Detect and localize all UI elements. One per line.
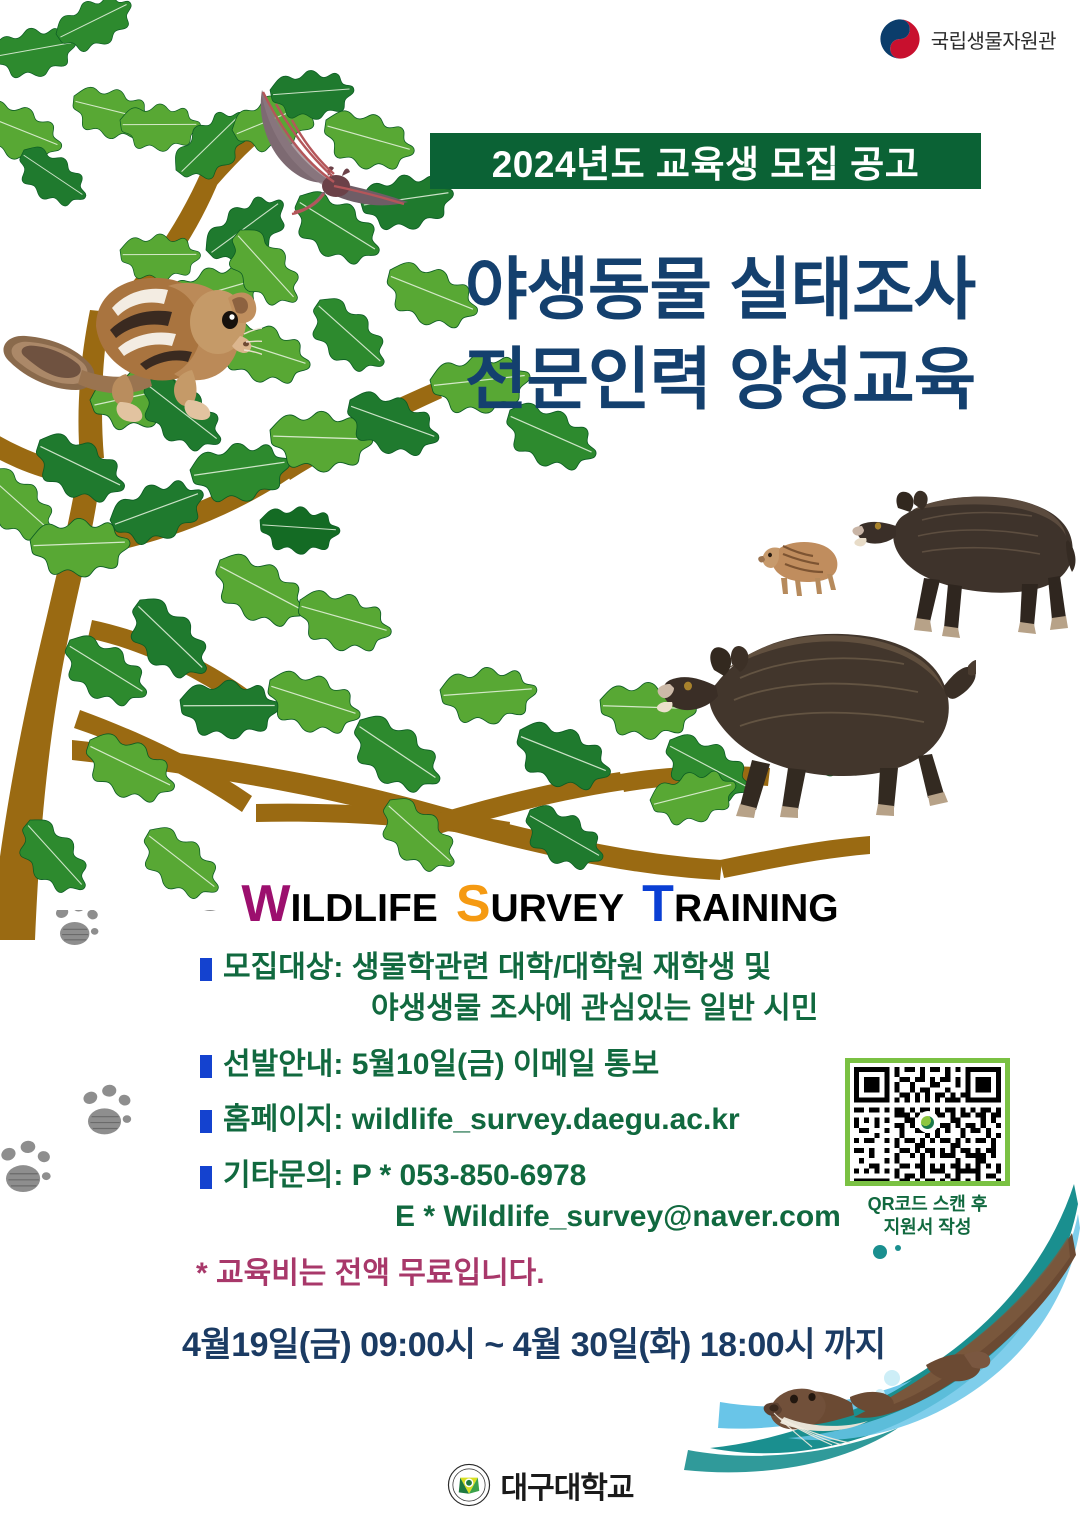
info-contact-email[interactable]: E * Wildlife_survey@naver.com [223,1197,841,1238]
wild-boar-piglet-illustration [757,528,847,598]
info-list: 모집대상: 생물학관련 대학/대학원 재학생 및 야생생물 조사에 관심있는 일… [200,948,920,1253]
info-contact-phone: 기타문의: P * 053-850-6978 [223,1159,586,1192]
qr-code-image[interactable] [845,1058,1010,1186]
bullet-square-icon [200,1055,212,1078]
qr-caption-line1: QR코드 스캔 후 [845,1193,1010,1216]
subtitle-word-wildlife: ILDLIFE [290,887,437,930]
info-item-target: 모집대상: 생물학관련 대학/대학원 재학생 및 야생생물 조사에 관심있는 일… [200,948,920,1030]
illustration-layer [0,0,1080,1527]
qr-center-logo [917,1111,939,1133]
agency-name: 국립생물자원관 [931,25,1056,54]
subtitle-cap-t: T [642,875,674,933]
page-title: 야생동물 실태조사 전문인력 양성교육 [390,245,1050,426]
university-footer: 대구대학교 [0,1463,1080,1507]
application-period: 4월19일(금) 09:00시 ~ 4월 30일(화) 18:00시 까지 [182,1317,886,1366]
info-item-selection: 선발안내: 5월10일(금) 이메일 통보 [200,1045,920,1086]
wild-boar-standing-illustration [852,480,1080,640]
oak-tree-branch-illustration [0,60,880,960]
title-line-1: 야생동물 실태조사 [390,245,1050,335]
info-item-homepage: 홈페이지: wildlife_survey.daegu.ac.kr [200,1100,920,1141]
free-tuition-note: * 교육비는 전액 무료입니다. [196,1248,545,1292]
bullet-square-icon [200,1110,212,1133]
title-line-2: 전문인력 양성교육 [390,335,1050,425]
qr-caption-line2: 지원서 작성 [845,1216,1010,1239]
flying-bat-illustration [236,82,416,227]
info-item-homepage-text[interactable]: 홈페이지: wildlife_survey.daegu.ac.kr [223,1100,740,1141]
subtitle-cap-s: S [456,875,491,933]
subtitle-word-training: RAINING [674,887,839,930]
english-subtitle: WILDLIFESURVEYTRAINING [0,874,1080,934]
korea-government-taegeuk-logo [879,18,921,60]
bullet-square-icon [200,958,212,981]
wild-boar-running-illustration [656,608,976,818]
qr-caption: QR코드 스캔 후 지원서 작성 [845,1193,1010,1239]
info-target-line1: 모집대상: 생물학관련 대학/대학원 재학생 및 [223,951,771,984]
qr-code-block[interactable]: QR코드 스캔 후 지원서 작성 [845,1058,1010,1239]
subtitle-word-survey: URVEY [491,887,625,930]
daegu-university-seal [447,1463,491,1507]
info-item-selection-text: 선발안내: 5월10일(금) 이메일 통보 [223,1045,659,1086]
bullet-square-icon [200,1166,212,1189]
poster-root: 국립생물자원관 2024년도 교육생 모집 공고 야생동물 실태조사 전문인력 … [0,0,1080,1527]
info-item-contact: 기타문의: P * 053-850-6978 E * Wildlife_surv… [200,1156,920,1238]
info-item-contact-text: 기타문의: P * 053-850-6978 E * Wildlife_surv… [223,1156,841,1238]
info-item-target-text: 모집대상: 생물학관련 대학/대학원 재학생 및 야생생물 조사에 관심있는 일… [223,948,818,1030]
university-name: 대구대학교 [501,1463,634,1507]
info-target-line2: 야생생물 조사에 관심있는 일반 시민 [223,989,818,1030]
chipmunk-illustration [0,252,262,432]
announcement-banner: 2024년도 교육생 모집 공고 [430,133,981,189]
agency-logo: 국립생물자원관 [879,18,1056,60]
subtitle-cap-w: W [241,875,290,933]
announcement-banner-text: 2024년도 교육생 모집 공고 [492,134,920,188]
